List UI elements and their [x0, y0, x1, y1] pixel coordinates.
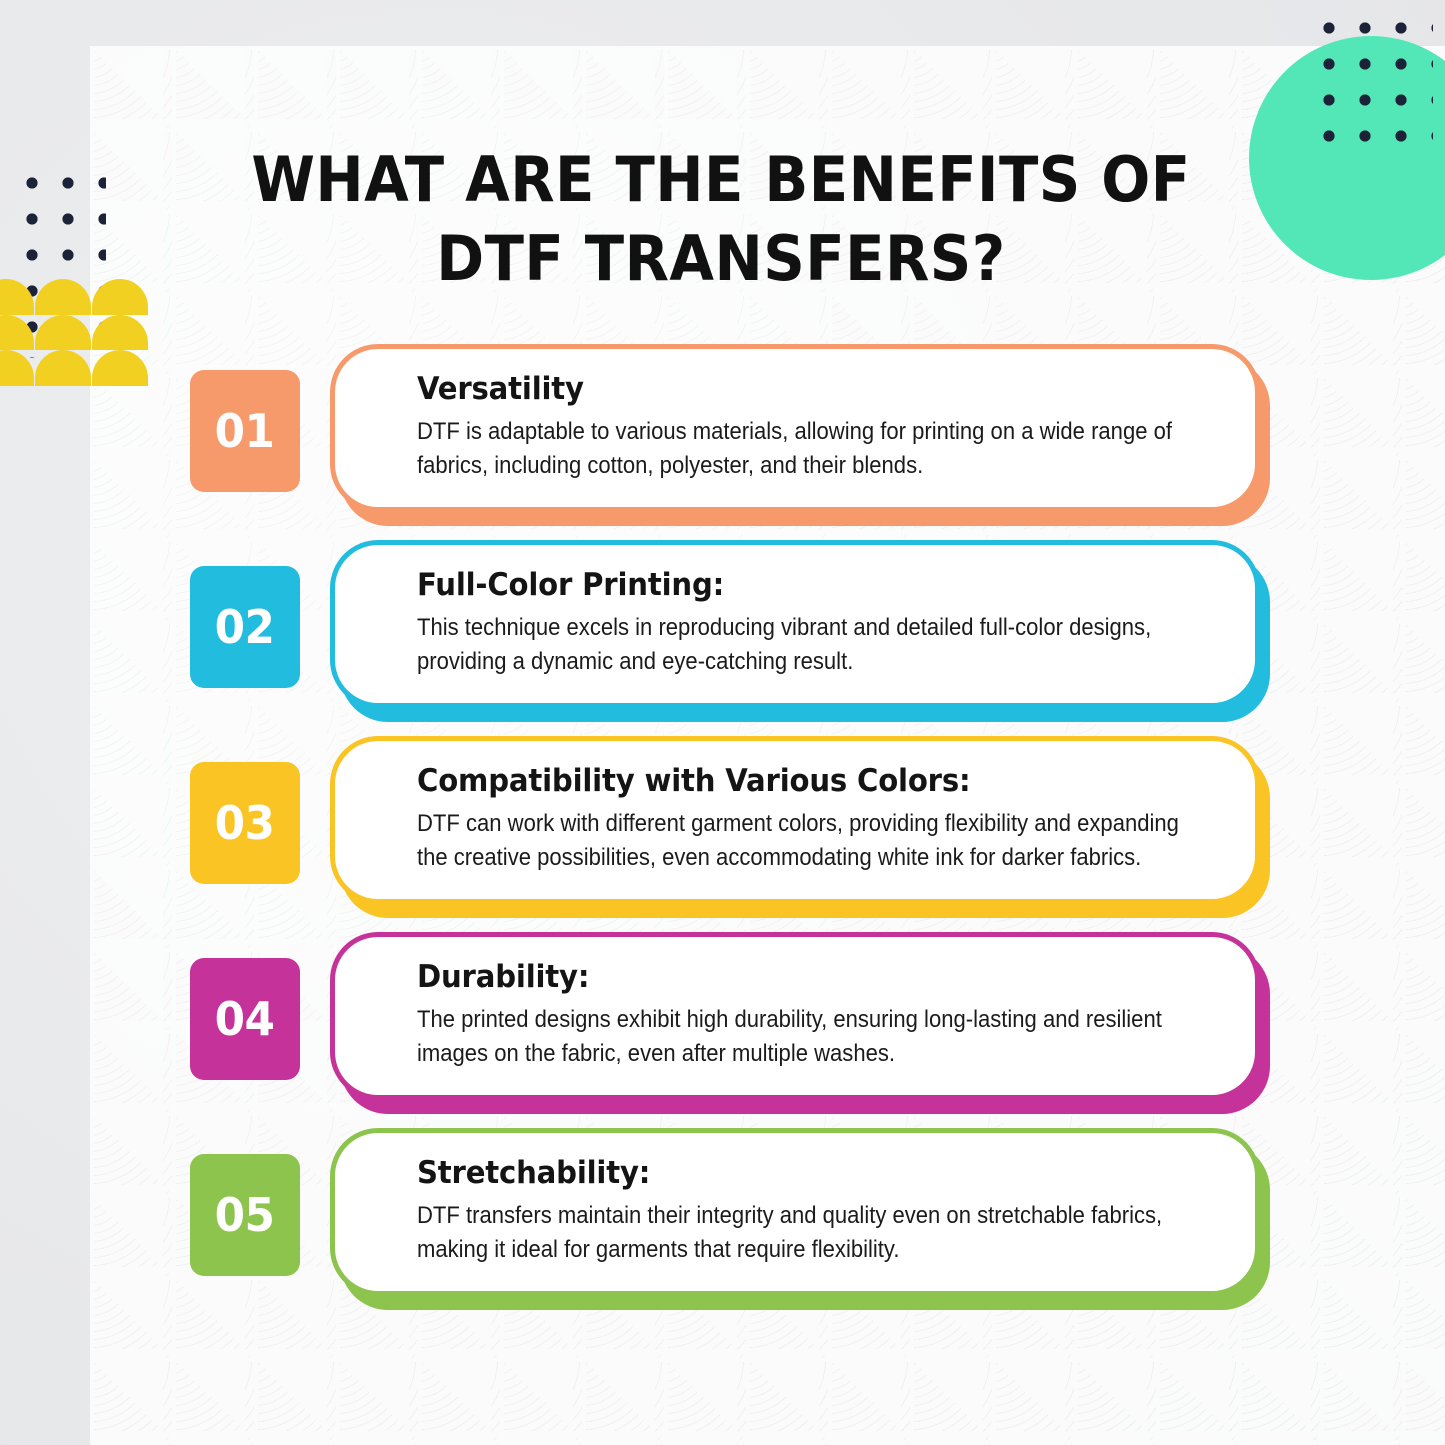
benefit-number-badge: 05 — [190, 1154, 300, 1276]
benefit-number-badge: 04 — [190, 958, 300, 1080]
benefit-description: DTF is adaptable to various materials, a… — [417, 415, 1214, 483]
card-body: Compatibility with Various Colors: DTF c… — [330, 736, 1260, 904]
benefits-list: 01 Versatility DTF is adaptable to vario… — [0, 338, 1445, 1318]
benefit-card: Stretchability: DTF transfers maintain t… — [330, 1128, 1260, 1296]
benefit-number-label: 02 — [215, 600, 275, 654]
benefit-title: Versatility — [417, 371, 1167, 407]
benefit-item-02: 02 Full-Color Printing: This technique e… — [0, 534, 1445, 730]
benefit-description: DTF can work with different garment colo… — [417, 807, 1214, 875]
benefit-card: Durability: The printed designs exhibit … — [330, 932, 1260, 1100]
benefit-number-badge: 03 — [190, 762, 300, 884]
benefit-description: This technique excels in reproducing vib… — [417, 611, 1214, 679]
dot-grid-top-right-decoration — [1309, 8, 1433, 164]
infographic-poster: WHAT ARE THE BENEFITS OF DTF TRANSFERS? … — [0, 0, 1445, 1445]
benefit-title: Compatibility with Various Colors: — [417, 763, 1167, 799]
dome-row — [0, 279, 153, 315]
dome-shape — [0, 279, 34, 315]
benefit-number-badge: 01 — [190, 370, 300, 492]
benefit-item-04: 04 Durability: The printed designs exhib… — [0, 926, 1445, 1122]
dome-shape — [35, 279, 91, 315]
benefit-title: Durability: — [417, 959, 1167, 995]
benefit-number-label: 01 — [215, 404, 275, 458]
page-title: WHAT ARE THE BENEFITS OF DTF TRANSFERS? — [214, 140, 1228, 299]
card-body: Stretchability: DTF transfers maintain t… — [330, 1128, 1260, 1296]
benefit-number-badge: 02 — [190, 566, 300, 688]
benefit-card: Compatibility with Various Colors: DTF c… — [330, 736, 1260, 904]
benefit-description: DTF transfers maintain their integrity a… — [417, 1199, 1214, 1267]
dome-shape — [92, 279, 148, 315]
benefit-title: Stretchability: — [417, 1155, 1167, 1191]
benefit-card: Versatility DTF is adaptable to various … — [330, 344, 1260, 512]
benefit-number-label: 03 — [215, 796, 275, 850]
benefit-item-03: 03 Compatibility with Various Colors: DT… — [0, 730, 1445, 926]
benefit-item-05: 05 Stretchability: DTF transfers maintai… — [0, 1122, 1445, 1318]
benefit-number-label: 05 — [215, 1188, 275, 1242]
benefit-number-label: 04 — [215, 992, 275, 1046]
benefit-description: The printed designs exhibit high durabil… — [417, 1003, 1214, 1071]
benefit-title: Full-Color Printing: — [417, 567, 1167, 603]
benefit-card: Full-Color Printing: This technique exce… — [330, 540, 1260, 708]
card-body: Durability: The printed designs exhibit … — [330, 932, 1260, 1100]
benefit-item-01: 01 Versatility DTF is adaptable to vario… — [0, 338, 1445, 534]
card-body: Versatility DTF is adaptable to various … — [330, 344, 1260, 512]
card-body: Full-Color Printing: This technique exce… — [330, 540, 1260, 708]
